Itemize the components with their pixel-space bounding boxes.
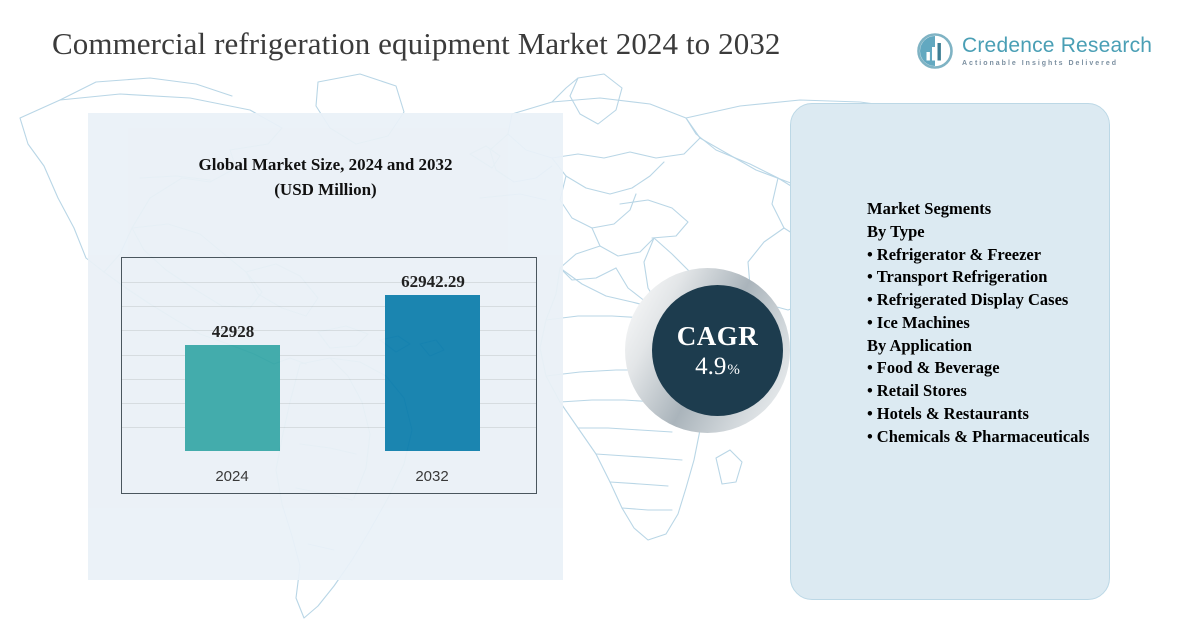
market-segments-panel: Market Segments By Type•Refrigerator & F…: [790, 103, 1110, 600]
cagr-value: 4.9: [695, 354, 726, 379]
market-segments-content: Market Segments By Type•Refrigerator & F…: [867, 198, 1097, 448]
segment-group-by-type: By Type: [867, 221, 1097, 244]
segment-group-by-application: By Application: [867, 335, 1097, 358]
credence-bar-chart-circle-icon: [915, 31, 955, 71]
bar-value-2032: 62942.29: [394, 273, 472, 291]
page-title: Commercial refrigeration equipment Marke…: [52, 26, 781, 62]
cagr-badge: CAGR 4.9 %: [625, 268, 790, 433]
cagr-value-row: 4.9 %: [695, 354, 740, 379]
chart-panel: Global Market Size, 2024 and 2032 (USD M…: [88, 113, 563, 580]
bar-value-2024: 42928: [194, 323, 272, 341]
segment-item: •Food & Beverage: [867, 357, 1097, 380]
chart-heading-line2: (USD Million): [88, 178, 563, 203]
segment-item: •Transport Refrigeration: [867, 266, 1097, 289]
bullet-icon: •: [867, 290, 873, 309]
chart-gridline: [122, 282, 536, 283]
chart-heading-line1: Global Market Size, 2024 and 2032: [198, 155, 452, 174]
bullet-icon: •: [867, 245, 873, 264]
bar-chart: 42928 62942.29 2024 2032: [121, 257, 537, 494]
brand-tagline: Actionable Insights Delivered: [962, 60, 1152, 67]
brand-name: Credence Research: [962, 35, 1152, 56]
segment-item: •Chemicals & Pharmaceuticals: [867, 426, 1097, 449]
segment-item: •Hotels & Restaurants: [867, 403, 1097, 426]
bullet-icon: •: [867, 404, 873, 423]
bar-2032[interactable]: [385, 295, 480, 451]
chart-heading: Global Market Size, 2024 and 2032 (USD M…: [88, 153, 563, 202]
bullet-icon: •: [867, 267, 873, 286]
brand-text: Credence Research Actionable Insights De…: [962, 35, 1152, 67]
segments-title: Market Segments: [867, 198, 1097, 221]
bullet-icon: •: [867, 381, 873, 400]
segment-item: •Retail Stores: [867, 380, 1097, 403]
brand-logo[interactable]: Credence Research Actionable Insights De…: [915, 31, 1152, 71]
bullet-icon: •: [867, 313, 873, 332]
cagr-unit: %: [727, 363, 740, 378]
header: Commercial refrigeration equipment Marke…: [0, 0, 1190, 88]
bullet-icon: •: [867, 427, 873, 446]
bar-2024[interactable]: [185, 345, 280, 451]
cagr-label: CAGR: [677, 323, 759, 350]
cagr-disc: CAGR 4.9 %: [652, 285, 783, 416]
segment-item: •Ice Machines: [867, 312, 1097, 335]
segment-item: •Refrigerated Display Cases: [867, 289, 1097, 312]
chart-plot-area: 42928 62942.29: [122, 258, 536, 451]
bullet-icon: •: [867, 358, 873, 377]
x-axis-label-2024: 2024: [177, 468, 287, 485]
segment-item: •Refrigerator & Freezer: [867, 244, 1097, 267]
x-axis-label-2032: 2032: [377, 468, 487, 485]
